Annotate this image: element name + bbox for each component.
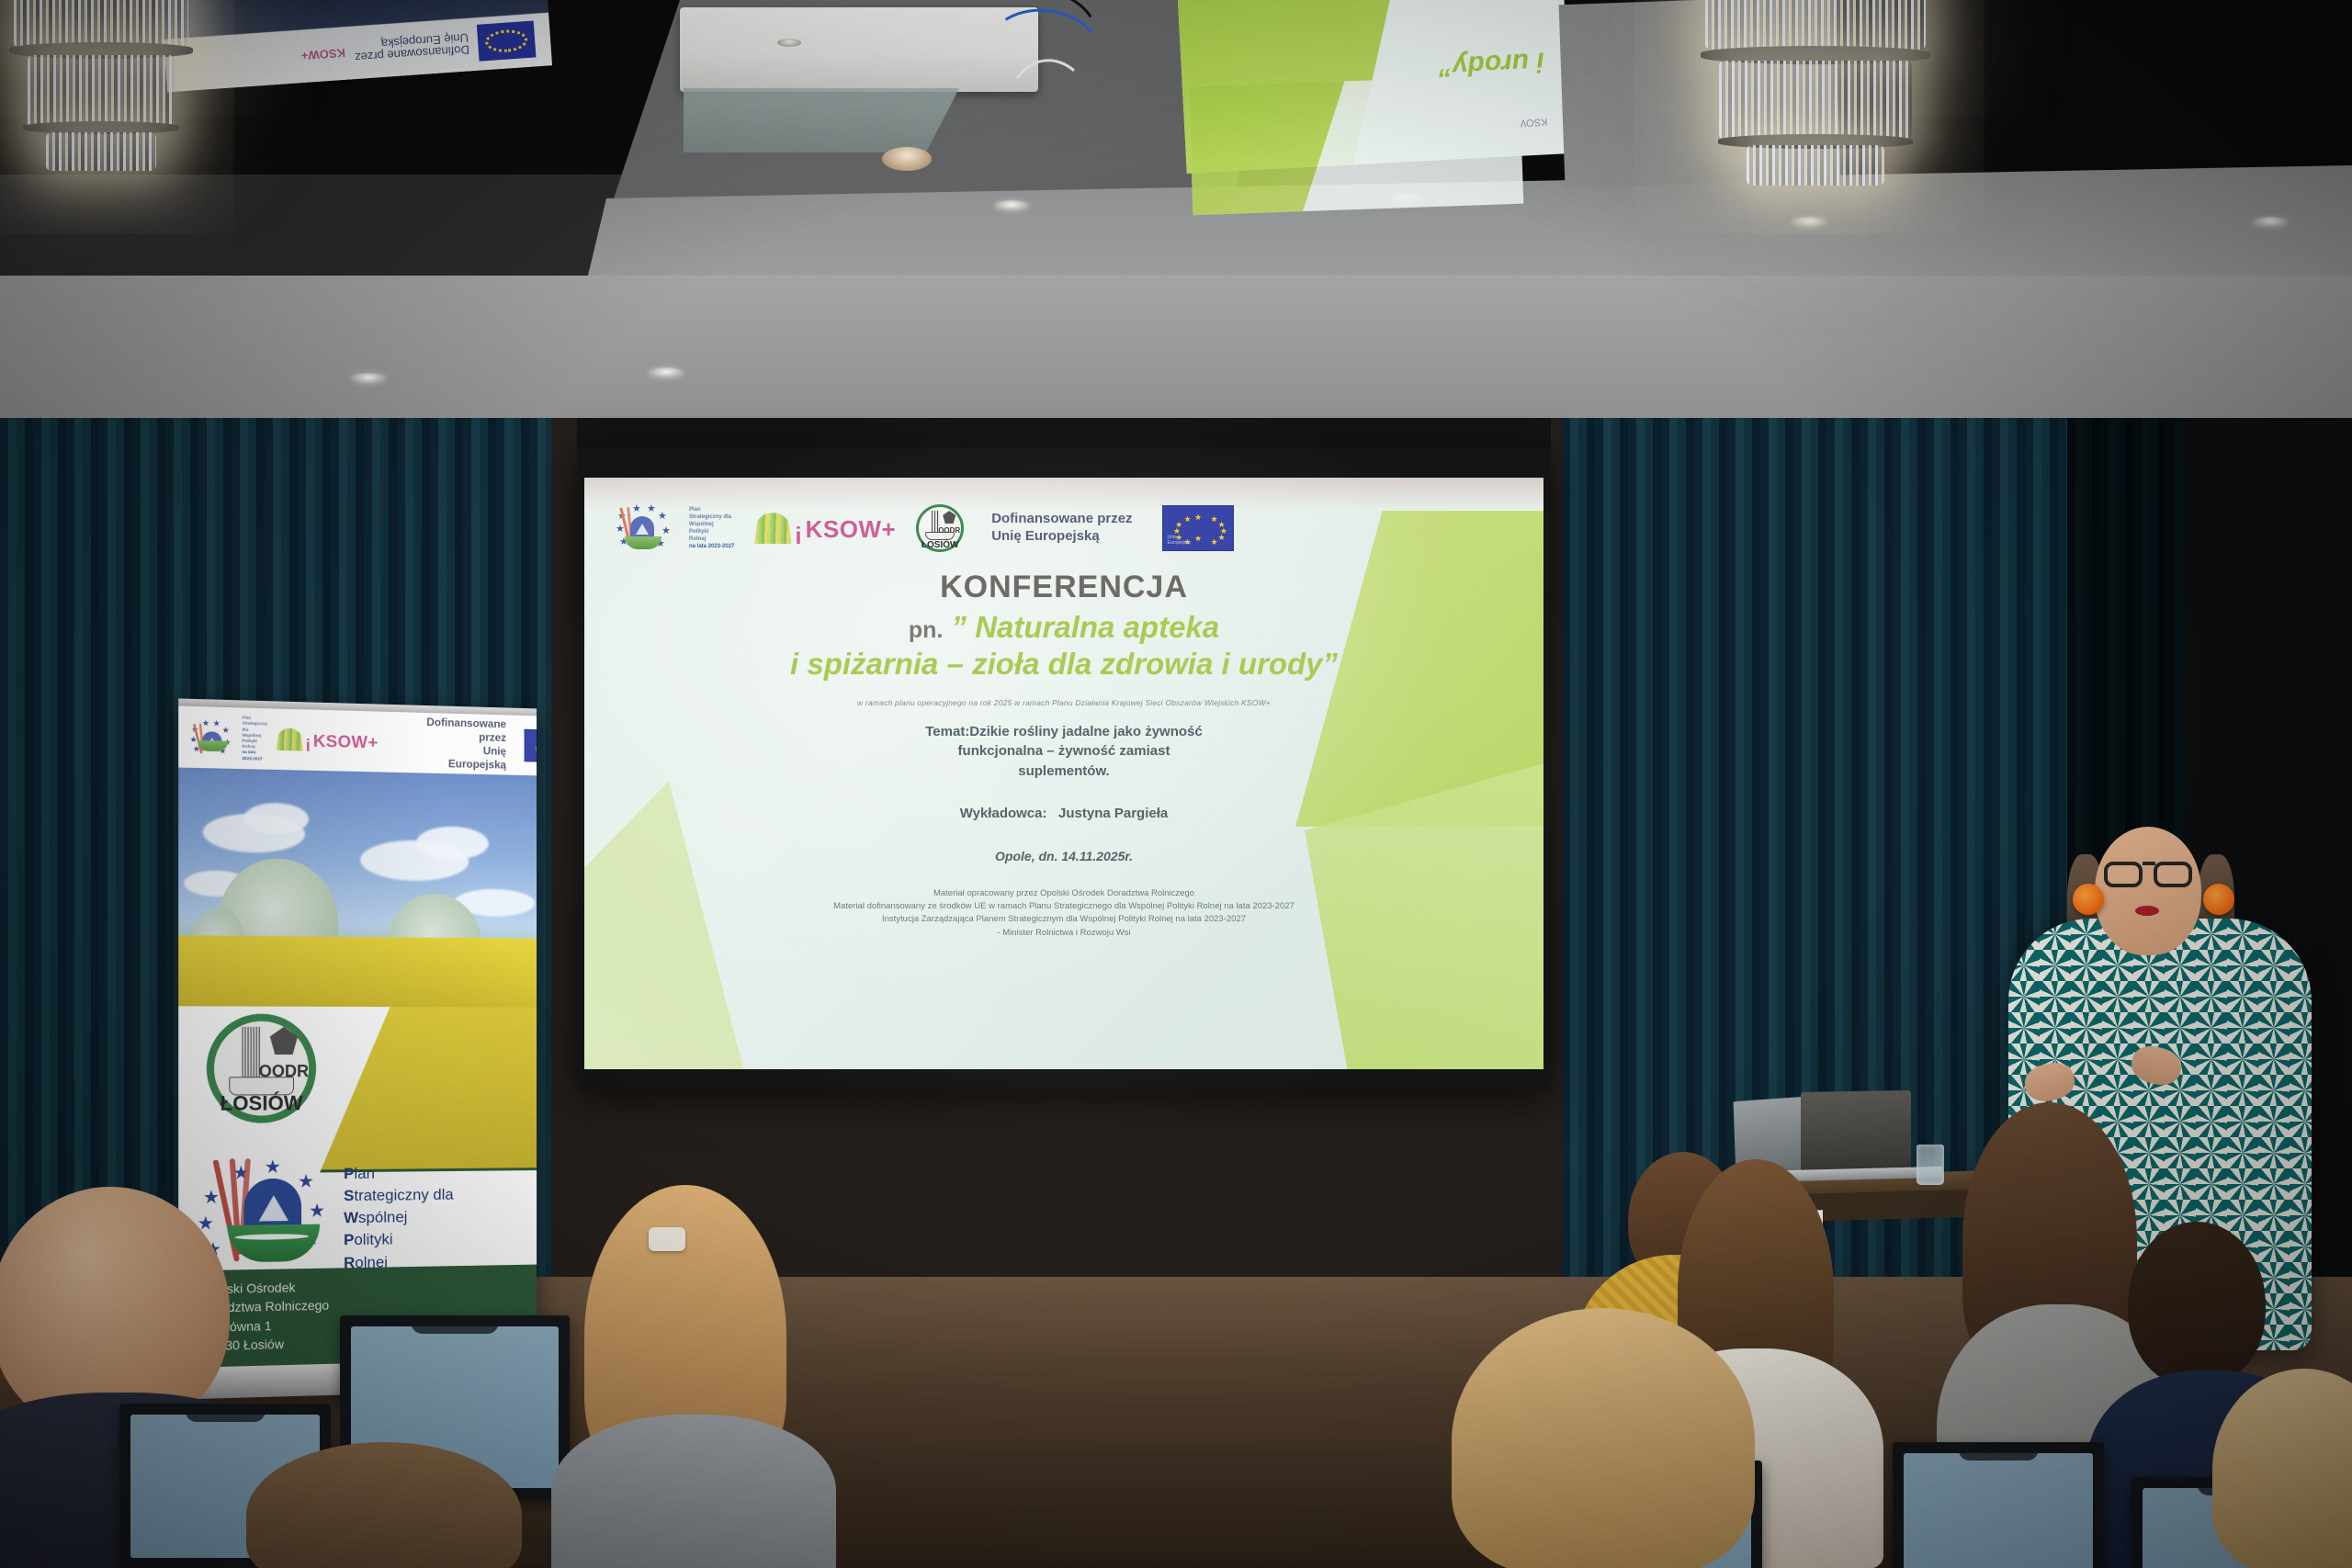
- conference-hall-photo: Dofinansowane przez Unię Europejską KSOW…: [0, 0, 2352, 1568]
- glasses-bridge: [2143, 862, 2155, 865]
- chandelier-right: [1687, 0, 1944, 178]
- slide-title: KONFERENCJA: [616, 570, 1512, 605]
- slide-footer-line4: - Minister Rolnictwa i Rozwoju Wsi: [616, 927, 1512, 940]
- slide-topic-line3: suplementów.: [616, 761, 1512, 782]
- oodr-logo-icon: OODR ŁOSIÓW: [207, 1014, 316, 1123]
- ceiling-lower-soffit: [0, 276, 2352, 441]
- glasses-lens-right: [2154, 862, 2192, 887]
- rollup-banner: ★ ★ ★ ★ ★ ★ ★ ★ PlanStrategiczny dlaWspó…: [178, 698, 537, 1399]
- ksow-fan-icon: [754, 513, 791, 544]
- slide-topic-line2: funkcjonalna – żywność zamiast: [616, 741, 1512, 761]
- psr-logo-caption: PlanStrategiczny dlaWspólnej PolitykiRol…: [242, 716, 267, 762]
- oodr-logo-icon: OODR ŁOSIÓW: [916, 504, 964, 552]
- ksow-i-glyph: i: [306, 739, 311, 752]
- hair-clip: [649, 1227, 685, 1251]
- slide-fineprint: w ramach planu operacyjnego na rok 2025 …: [616, 698, 1512, 707]
- eu-flag-icon: ★ ★ ★ ★ ★ ★ ★ ★ ★ ★ ★ ★: [524, 729, 537, 763]
- reflected-eu-text: Dofinansowane przez Unię Europejską: [354, 31, 470, 64]
- reflected-ksow-label: KSOW+: [300, 46, 345, 62]
- slide-footer: Materiał opracowany przez Opolski Ośrode…: [616, 887, 1512, 940]
- audience-body-grey-top: [551, 1415, 836, 1568]
- projector-lens: [882, 147, 932, 171]
- slide-logo-row: ★ ★ ★ ★ ★ ★ ★ ★ PlanStrategiczny dlaWspó…: [616, 498, 1512, 558]
- slide-subtitle: pn. ” Naturalna apteka i spiżarnia – zio…: [616, 609, 1512, 683]
- slide-footer-line2: Materiał dofinansowany ze środków UE w r…: [616, 900, 1512, 913]
- psr-logo-caption: PlanStrategiczny dlaWspólnej PolitykiRol…: [689, 506, 734, 551]
- slide-lecturer: Wykładowca: Justyna Pargieła: [616, 806, 1512, 821]
- ksow-logo-icon: i KSOW+: [277, 728, 379, 752]
- chair: [1893, 1442, 2104, 1568]
- earring-right: [2203, 884, 2234, 915]
- slide-footer-line1: Materiał opracowany przez Opolski Ośrode…: [616, 887, 1512, 900]
- slide-footer-line3: Instytucja Zarządzająca Planem Strategic…: [616, 913, 1512, 926]
- downlight: [351, 373, 386, 384]
- downlight: [2253, 217, 2288, 228]
- eu-flag-icon: ★ ★ ★ ★ ★ ★ ★ ★ ★ ★ ★ ★ UniaEuropejska: [1162, 505, 1234, 551]
- open-book-icon: [925, 532, 955, 540]
- downlight: [1792, 217, 1826, 228]
- oodr-name: ŁOSIÓW: [210, 1091, 312, 1116]
- slide-subtitle-line2: i spiżarnia – zioła dla zdrowia i urody”: [616, 646, 1512, 682]
- audience-head-bun: [2128, 1222, 2266, 1387]
- ceiling-slide-reflection-lower: [1189, 75, 1524, 215]
- slide-content: ★ ★ ★ ★ ★ ★ ★ ★ PlanStrategiczny dlaWspó…: [584, 478, 1543, 1069]
- slide-subtitle-prefix: pn.: [909, 617, 944, 643]
- rollup-landscape-photo: [178, 768, 537, 1048]
- oodr-name: ŁOSIÓW: [918, 540, 962, 550]
- projection-screen: ★ ★ ★ ★ ★ ★ ★ ★ PlanStrategiczny dlaWspó…: [584, 478, 1543, 1069]
- audience-hair-blonde-long: [1452, 1308, 1755, 1568]
- eu-funding-text: Dofinansowane przez Unię Europejską: [426, 716, 506, 773]
- eu-funding-text: Dofinansowane przez Unię Europejską: [991, 511, 1132, 546]
- psr-logo-icon: ★ ★ ★ ★ ★ ★ ★ ★: [189, 720, 224, 754]
- downlight: [994, 200, 1029, 211]
- ksow-i-glyph: i: [795, 526, 801, 546]
- slide-lecturer-label: Wykładowca:: [960, 806, 1047, 821]
- projector-indicator-led: [777, 39, 801, 47]
- ksow-logo-icon: i KSOW+: [754, 513, 896, 544]
- slide-place-date: Opole, dn. 14.11.2025r.: [616, 849, 1512, 863]
- slide-subtitle-line1: ” Naturalna apteka: [952, 610, 1220, 644]
- slide-topic-line1: Temat:Dzikie rośliny jadalne jako żywnoś…: [616, 722, 1512, 742]
- downlight: [649, 367, 684, 378]
- ksow-label: KSOW+: [313, 731, 379, 753]
- slide-lecturer-name: Justyna Pargieła: [1058, 806, 1168, 821]
- water-glass: [1917, 1145, 1944, 1185]
- laptop-screen: [1801, 1090, 1911, 1177]
- slide-topic: Temat:Dzikie rośliny jadalne jako żywnoś…: [616, 722, 1512, 782]
- ksow-label: KSOW+: [806, 515, 897, 544]
- earring-left: [2073, 884, 2104, 915]
- ksow-fan-icon: [277, 728, 303, 750]
- rollup-header-logos: ★ ★ ★ ★ ★ ★ ★ ★ PlanStrategiczny dlaWspó…: [178, 706, 537, 776]
- eu-flag-icon: [477, 20, 537, 61]
- projector-mount-plate: [684, 88, 959, 152]
- chandelier-left: [0, 0, 202, 175]
- speaker-lips: [2135, 906, 2159, 916]
- glasses-lens-left: [2104, 862, 2143, 887]
- psr-logo-icon: ★ ★ ★ ★ ★ ★ ★ ★: [616, 503, 669, 553]
- speaker-face: [2095, 827, 2201, 955]
